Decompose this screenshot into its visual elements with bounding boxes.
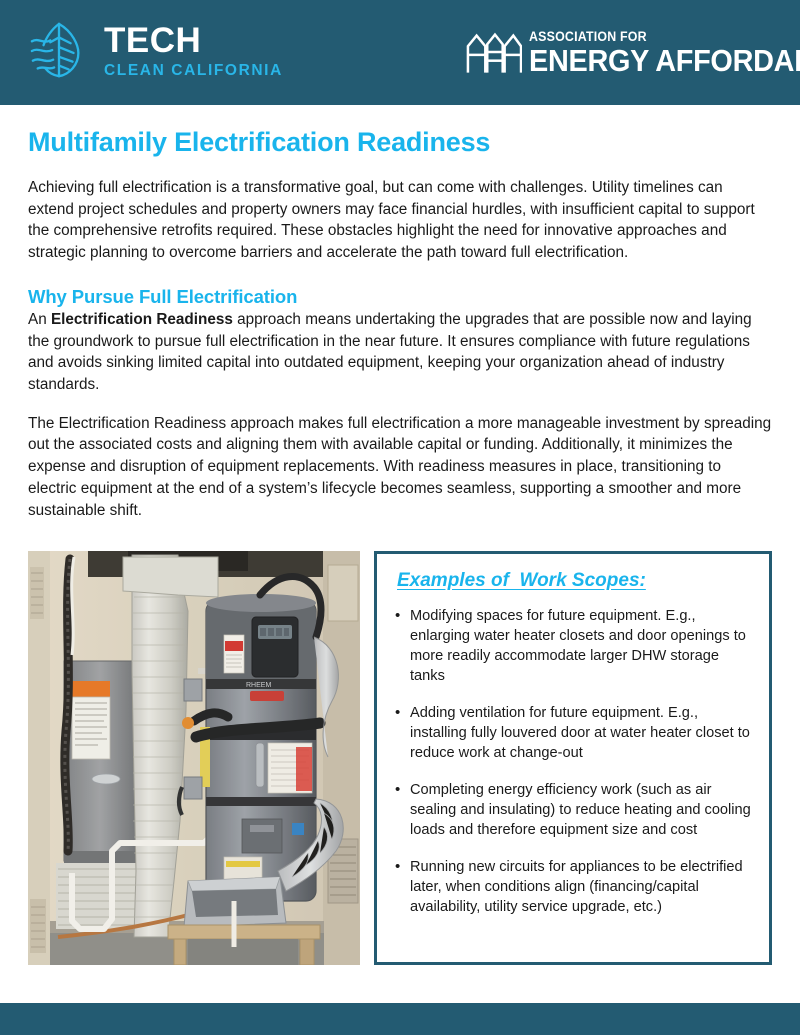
aea-logo-line-top: ASSOCIATION FOR [529, 30, 800, 44]
readiness-paragraph: An Electrification Readiness approach me… [28, 309, 772, 396]
list-item-text: Running new circuits for appliances to b… [410, 859, 743, 915]
readiness-text-before: An [28, 311, 51, 328]
tech-logo-title: TECH [104, 23, 283, 58]
page-header: TECH CLEAN CALIFORNIA ASSOCIATION FOR EN… [0, 0, 800, 105]
intro-paragraph: Achieving full electrification is a tran… [28, 177, 772, 264]
mechanical-closet-photo: RHEEM [28, 551, 360, 965]
section-heading-why-pursue: Why Pursue Full Electrification [28, 286, 772, 308]
readiness-term-bold: Electrification Readiness [51, 311, 233, 328]
list-item: • Adding ventilation for future equipmen… [395, 704, 753, 764]
examples-of-work-scopes-box: Examples of Work Scopes: • Modifying spa… [374, 551, 772, 965]
tech-logo-subtitle: CLEAN CALIFORNIA [104, 63, 283, 79]
scope-list: • Modifying spaces for future equipment.… [395, 607, 753, 918]
page-footer [0, 1003, 800, 1035]
approach-paragraph: The Electrification Readiness approach m… [28, 413, 772, 522]
bullet-icon: • [395, 857, 400, 878]
list-item: • Completing energy efficiency work (suc… [395, 781, 753, 841]
association-for-energy-affordability-logo: ASSOCIATION FOR ENERGY AFFORDABILITY INC… [466, 28, 800, 76]
document-body: Multifamily Electrification Readiness Ac… [0, 105, 800, 521]
leaf-wave-icon [28, 20, 90, 82]
page-title: Multifamily Electrification Readiness [28, 127, 800, 158]
scope-box-title: Examples of Work Scopes: [397, 570, 769, 592]
list-item-text: Modifying spaces for future equipment. E… [410, 608, 746, 684]
bullet-icon: • [395, 703, 400, 724]
list-item: • Modifying spaces for future equipment.… [395, 607, 753, 687]
list-item-text: Completing energy efficiency work (such … [410, 782, 751, 838]
bullet-icon: • [395, 780, 400, 801]
bullet-icon: • [395, 606, 400, 627]
mechanical-closet-illustration: RHEEM [28, 551, 360, 965]
lower-section: RHEEM [0, 551, 800, 969]
list-item: • Running new circuits for appliances to… [395, 858, 753, 918]
tech-clean-california-logo: TECH CLEAN CALIFORNIA [28, 20, 283, 82]
list-item-text: Adding ventilation for future equipment.… [410, 705, 750, 761]
three-houses-aea-icon [466, 28, 522, 76]
aea-logo-line-main: ENERGY AFFORDABILITY [529, 45, 800, 76]
